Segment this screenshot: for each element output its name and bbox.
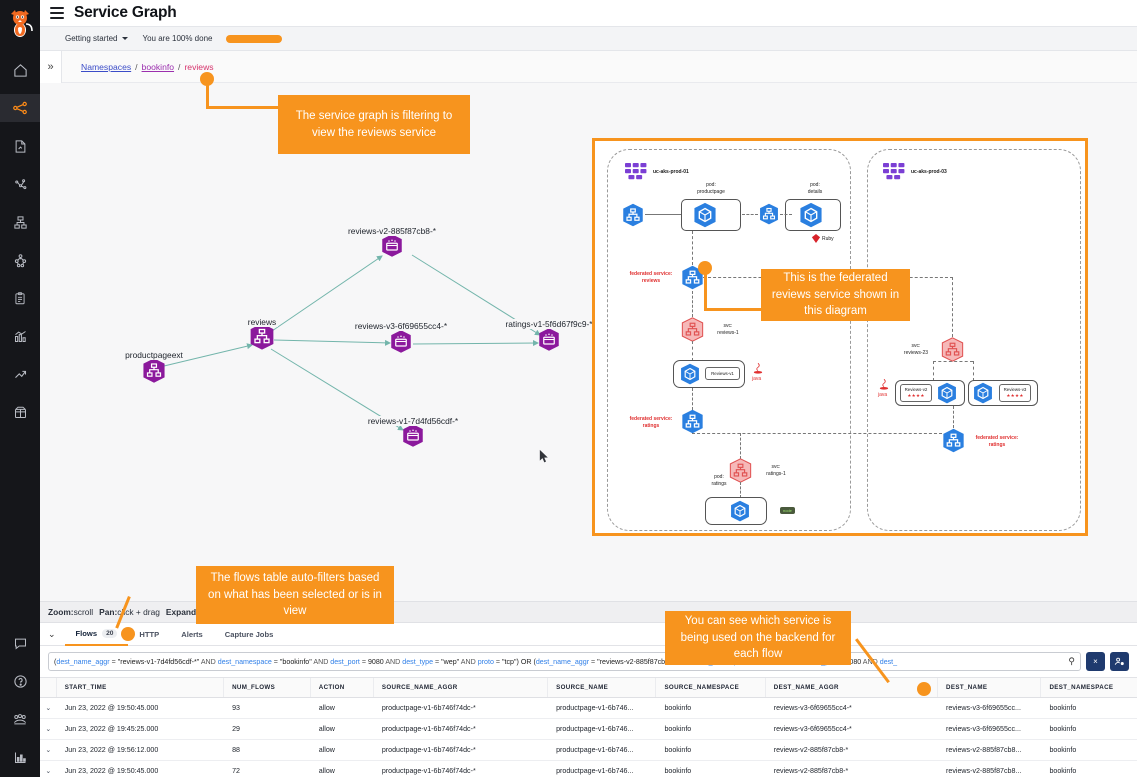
help-question-icon[interactable] xyxy=(0,667,40,695)
zoom-hint-zoom-label: Zoom: xyxy=(48,607,74,617)
zoom-hint-pan-label: Pan: xyxy=(99,607,117,617)
flow-query-input[interactable]: (dest_name_aggr = "reviews-v1-7d4fd56cdf… xyxy=(48,652,1081,671)
mouse-cursor xyxy=(539,449,549,464)
cell-dest_name: reviews-v3-6f69655cc... xyxy=(938,704,1041,712)
java-logo-icon-left xyxy=(753,363,763,375)
edge-right-cluster-down xyxy=(952,277,953,337)
cell-source_name: productpage-v1-6b746... xyxy=(548,704,656,712)
archive-box-icon[interactable] xyxy=(0,398,40,426)
reviews-v3-ui-label: Reviews-v3 xyxy=(1004,387,1027,392)
cluster-label-prod-01: uc-aks-prod-01 xyxy=(653,169,689,176)
pod-productpage-label: pod: productpage xyxy=(683,182,739,196)
edge-svc23-left-down xyxy=(933,361,934,381)
tab-capture-jobs[interactable]: Capture Jobs xyxy=(214,623,285,646)
getting-started-dropdown[interactable]: Getting started xyxy=(65,34,128,43)
network-sets-icon[interactable] xyxy=(0,208,40,236)
row-expand-chevron-down-icon[interactable]: ⌄ xyxy=(40,746,57,754)
graph-node-productpageext[interactable] xyxy=(141,358,167,389)
table-row[interactable]: ⌄Jun 23, 2022 @ 19:50:45.00072allowprodu… xyxy=(40,761,1137,777)
cell-source_name: productpage-v1-6b746... xyxy=(548,725,656,733)
edge-fed-ratings-link xyxy=(692,433,942,434)
edge-fed-reviews-down xyxy=(692,291,693,317)
service-graph-icon[interactable] xyxy=(0,94,40,122)
callout-2-leader-line-2 xyxy=(704,308,764,311)
table-row[interactable]: ⌄Jun 23, 2022 @ 19:50:45.00093allowprodu… xyxy=(40,698,1137,719)
edge-svc-reviews1-down xyxy=(692,341,693,361)
cell-start_time: Jun 23, 2022 @ 19:45:25.000 xyxy=(57,725,224,733)
details-pod-icon xyxy=(798,202,824,228)
table-header-source-namespace[interactable]: SOURCE_NAMESPACE xyxy=(656,678,765,697)
progress-text: You are 100% done xyxy=(142,34,212,43)
graph-node-reviews[interactable] xyxy=(248,323,276,356)
edge-details-svc-to-pod xyxy=(780,214,792,215)
query-token-19: "tcp" xyxy=(502,658,517,666)
table-header-start-time[interactable]: START_TIME xyxy=(57,678,224,697)
cell-source_name: productpage-v1-6b746... xyxy=(548,746,656,754)
cell-num_flows: 93 xyxy=(224,704,311,712)
cell-action: allow xyxy=(311,767,374,775)
edge-svc23-split xyxy=(933,361,973,362)
federated-ratings-right-icon xyxy=(941,428,966,453)
callout-2-anchor-dot xyxy=(698,261,712,275)
reviews-v1-pod-icon xyxy=(679,363,701,385)
query-token-15: "wep" xyxy=(441,658,459,666)
callout-3-anchor-dot xyxy=(121,627,135,641)
users-group-icon[interactable] xyxy=(0,705,40,733)
cell-source_name_aggr: productpage-v1-6b746f74dc-* xyxy=(374,767,548,775)
query-token-14: = xyxy=(433,658,441,666)
cell-dest_name_aggr: reviews-v3-6f69655cc4-* xyxy=(766,704,938,712)
query-token-20: ) OR ( xyxy=(517,658,536,666)
reviews-v2-pod-icon xyxy=(936,382,958,404)
table-header-row: START_TIME NUM_FLOWS ACTION SOURCE_NAME_… xyxy=(40,677,1137,698)
ingress-service-icon xyxy=(621,203,645,227)
graph-node-reviews-v1[interactable] xyxy=(401,424,425,453)
query-token-16: AND xyxy=(459,658,478,666)
cell-start_time: Jun 23, 2022 @ 19:50:45.000 xyxy=(57,767,224,775)
node-runtime-badge: node xyxy=(780,507,795,514)
cell-source_namespace: bookinfo xyxy=(656,725,765,733)
svc-reviews-23-icon xyxy=(940,337,965,362)
query-token-4: AND xyxy=(199,658,218,666)
clear-filter-button[interactable]: × xyxy=(1086,652,1105,671)
breadcrumb-item-reviews: reviews xyxy=(184,62,213,72)
federated-ratings-label: federated service: ratings xyxy=(623,416,679,430)
table-row[interactable]: ⌄Jun 23, 2022 @ 19:45:25.00029allowprodu… xyxy=(40,719,1137,740)
save-filter-button[interactable] xyxy=(1110,652,1129,671)
cell-source_name_aggr: productpage-v1-6b746f74dc-* xyxy=(374,704,548,712)
query-token-18: = xyxy=(494,658,502,666)
breadcrumb: Namespaces / bookinfo / reviews xyxy=(81,62,214,72)
row-expand-chevron-down-icon[interactable]: ⌄ xyxy=(40,767,57,775)
sidebar-expander-button[interactable]: » xyxy=(40,51,62,83)
progress-bar xyxy=(226,35,282,43)
query-token-17: proto xyxy=(478,658,494,666)
reviews-v2-stars-icon: ★★★★ xyxy=(907,393,924,399)
cell-source_name_aggr: productpage-v1-6b746f74dc-* xyxy=(374,746,548,754)
svc-reviews-23-label: svc: reviews-23 xyxy=(895,343,937,357)
callout-backend-service-per-flow: You can see which service is being used … xyxy=(665,611,851,665)
nodes-graph-icon[interactable] xyxy=(0,170,40,198)
query-token-7: "bookinfo" xyxy=(280,658,312,666)
callout-1-anchor-dot xyxy=(200,72,214,86)
reviews-v1-ui-box: Reviews-v1 xyxy=(705,367,740,380)
pod-ratings-label: pod: ratings xyxy=(698,474,740,488)
query-token-13: dest_type xyxy=(402,658,433,666)
rail-bottom-group xyxy=(0,619,40,777)
trend-arrow-icon[interactable] xyxy=(0,360,40,388)
tab-http-label: HTTP xyxy=(139,630,159,639)
reviews-v2-ui-label: Reviews-v2 xyxy=(905,387,928,392)
callout-federated-reviews-service: This is the federated reviews service sh… xyxy=(761,269,910,321)
callout-1-leader-line-2 xyxy=(206,106,282,109)
edge-fed-ratings-down xyxy=(740,433,741,459)
pod-details-label: pod: details xyxy=(787,182,843,196)
getting-started-label: Getting started xyxy=(65,34,117,43)
reviews-v3-stars-icon: ★★★★ xyxy=(1006,393,1023,399)
policies-icon[interactable] xyxy=(0,132,40,160)
table-body: ⌄Jun 23, 2022 @ 19:50:45.00093allowprodu… xyxy=(40,698,1137,777)
cell-dest_namespace: bookinfo xyxy=(1041,746,1137,754)
graph-node-label-reviews-v1: reviews-v1-7d4fd56cdf-* xyxy=(366,416,460,426)
edge-svc23-right-down xyxy=(973,361,974,381)
tigera-cat-logo[interactable] xyxy=(0,0,40,46)
cell-num_flows: 72 xyxy=(224,767,311,775)
top-bar: Service Graph xyxy=(40,0,1137,27)
dashboard-chart-icon[interactable] xyxy=(0,322,40,350)
table-header-source-name[interactable]: SOURCE_NAME xyxy=(548,678,656,697)
callout-4-anchor-dot xyxy=(917,682,931,696)
page-title: Service Graph xyxy=(74,4,177,22)
cell-action: allow xyxy=(311,725,374,733)
query-token-21: dest_name_aggr xyxy=(536,658,589,666)
row-expand-chevron-down-icon[interactable]: ⌄ xyxy=(40,704,57,712)
callout-flows-table-autofilter: The flows table auto-filters based on wh… xyxy=(196,566,394,624)
java-label-left: java xyxy=(752,376,761,383)
edge-reviews-v23-down xyxy=(953,406,954,428)
flow-filter-row: (dest_name_aggr = "reviews-v1-7d4fd56cdf… xyxy=(40,646,1137,677)
java-label-right: java xyxy=(878,392,887,399)
table-header-dest-name[interactable]: DEST_NAME xyxy=(938,678,1041,697)
query-token-9: dest_port xyxy=(330,658,360,666)
home-icon[interactable] xyxy=(0,56,40,84)
table-header-action[interactable]: ACTION xyxy=(311,678,374,697)
cell-dest_namespace: bookinfo xyxy=(1041,725,1137,733)
save-filter-icon xyxy=(1114,656,1125,667)
double-chevron-down-icon[interactable]: ⌄ xyxy=(48,629,56,640)
edge-svc-ratings1-down xyxy=(740,482,741,498)
edge-productpage-to-details-svc xyxy=(742,214,758,215)
query-token-1: dest_name_aggr xyxy=(56,658,109,666)
federated-ratings-right-label: federated service: ratings xyxy=(969,435,1025,449)
graph-node-label-reviews-v2: reviews-v2-885f87cb8-* xyxy=(346,226,438,236)
query-token-2: = xyxy=(110,658,118,666)
cell-start_time: Jun 23, 2022 @ 19:56:12.000 xyxy=(57,746,224,754)
query-token-5: dest_namespace xyxy=(218,658,272,666)
architecture-diagram-panel: uc-aks-prod-01 uc-aks-prod-03 pod: produ… xyxy=(592,138,1088,536)
cell-dest_name_aggr: reviews-v3-6f69655cc4-* xyxy=(766,725,938,733)
cell-source_namespace: bookinfo xyxy=(656,767,765,775)
graph-node-label-reviews-v3: reviews-v3-6f69655cc4-* xyxy=(353,321,449,331)
flows-table[interactable]: START_TIME NUM_FLOWS ACTION SOURCE_NAME_… xyxy=(40,677,1137,777)
cell-dest_name_aggr: reviews-v2-885f87cb8-* xyxy=(766,746,938,754)
table-header-dest-name-aggr[interactable]: DEST_NAME_AGGR xyxy=(766,678,938,697)
cluster-label-prod-03: uc-aks-prod-03 xyxy=(911,169,947,176)
table-row[interactable]: ⌄Jun 23, 2022 @ 19:56:12.00088allowprodu… xyxy=(40,740,1137,761)
query-token-11: 9080 xyxy=(368,658,384,666)
tab-flows-count: 20 xyxy=(102,629,117,638)
cell-action: allow xyxy=(311,746,374,754)
zoom-hint-expand-label[interactable]: Expand xyxy=(166,607,196,617)
cluster-box-prod-03 xyxy=(867,149,1081,531)
table-header-spacer xyxy=(40,678,57,697)
reviews-v3-ui-box: Reviews-v3 ★★★★ xyxy=(999,384,1031,402)
row-expand-chevron-down-icon[interactable]: ⌄ xyxy=(40,725,57,733)
callout-service-graph-filtering: The service graph is filtering to view t… xyxy=(278,95,470,154)
cell-dest_name: reviews-v2-885f87cb8... xyxy=(938,746,1041,754)
details-service-icon xyxy=(758,203,780,225)
tab-flows-label: Flows xyxy=(76,629,98,638)
query-token-33: dest_ xyxy=(880,658,897,666)
table-header-dest-namespace[interactable]: DEST_NAMESPACE xyxy=(1041,678,1137,697)
query-token-6: = xyxy=(272,658,280,666)
graph-node-ratings-v1[interactable] xyxy=(537,328,561,357)
getting-started-strip: Getting started You are 100% done xyxy=(40,27,1137,51)
ruby-logo-icon xyxy=(811,234,821,243)
federated-reviews-label: federated service: reviews xyxy=(623,271,679,285)
cell-source_name_aggr: productpage-v1-6b746f74dc-* xyxy=(374,725,548,733)
clear-x-icon: × xyxy=(1093,657,1098,666)
svc-reviews-1-icon xyxy=(680,317,705,342)
edge-productpage-down xyxy=(692,231,693,265)
graph-node-reviews-v3[interactable] xyxy=(389,330,413,359)
chat-bubble-icon[interactable] xyxy=(0,629,40,657)
graph-node-reviews-v2[interactable] xyxy=(380,234,404,263)
cell-source_namespace: bookinfo xyxy=(656,704,765,712)
query-token-10: = xyxy=(360,658,368,666)
cell-dest_namespace: bookinfo xyxy=(1041,704,1137,712)
hierarchy-icon[interactable] xyxy=(0,246,40,274)
tab-alerts-label: Alerts xyxy=(181,630,203,639)
zoom-hint-zoom-value: scroll xyxy=(74,607,94,617)
reviews-v3-pod-icon xyxy=(972,382,994,404)
left-nav-rail xyxy=(0,0,40,777)
svc-ratings-1-label: svc: ratings-1 xyxy=(755,464,797,478)
graph-node-label-ratings-v1: ratings-v1-5f6d67f9c9-* xyxy=(503,319,594,329)
edge-ingress-to-productpage xyxy=(645,214,681,215)
reviews-v2-ui-box: Reviews-v2 ★★★★ xyxy=(900,384,932,402)
cell-dest_name: reviews-v3-6f69655cc... xyxy=(938,725,1041,733)
magnifier-icon[interactable]: ⚲ xyxy=(1064,656,1075,667)
federated-ratings-icon xyxy=(680,409,705,434)
graph-node-label-productpageext: productpageext xyxy=(123,350,185,360)
svc-reviews-1-label: svc: reviews-1 xyxy=(707,323,749,337)
cell-source_name: productpage-v1-6b746... xyxy=(548,767,656,775)
cell-num_flows: 29 xyxy=(224,725,311,733)
tab-capture-jobs-label: Capture Jobs xyxy=(225,630,274,639)
java-logo-icon-right xyxy=(879,379,889,391)
breadcrumb-separator-2: / xyxy=(178,62,180,72)
query-token-3: "reviews-v1-7d4fd56cdf-*" xyxy=(118,658,200,666)
cell-dest_name_aggr: reviews-v2-885f87cb8-* xyxy=(766,767,938,775)
table-header-source-name-aggr[interactable]: SOURCE_NAME_AGGR xyxy=(374,678,548,697)
productpage-pod-icon xyxy=(692,202,718,228)
query-token-22: = xyxy=(589,658,597,666)
edge-reviews-v1-down xyxy=(692,388,693,410)
cell-start_time: Jun 23, 2022 @ 19:50:45.000 xyxy=(57,704,224,712)
kibana-bars-icon[interactable] xyxy=(0,743,40,771)
cell-num_flows: 88 xyxy=(224,746,311,754)
cluster-icon-prod-01 xyxy=(625,163,649,181)
hamburger-icon[interactable] xyxy=(50,4,64,22)
cell-action: allow xyxy=(311,704,374,712)
chevron-down-icon xyxy=(122,37,128,40)
query-token-8: AND xyxy=(312,658,331,666)
logs-clipboard-icon[interactable] xyxy=(0,284,40,312)
cluster-icon-prod-03 xyxy=(883,163,907,181)
tab-alerts[interactable]: Alerts xyxy=(170,623,214,646)
table-header-num-flows[interactable]: NUM_FLOWS xyxy=(224,678,311,697)
graph-node-label-reviews: reviews xyxy=(246,317,278,327)
ruby-label: Ruby xyxy=(822,236,834,243)
cell-dest_name: reviews-v2-885f87cb8... xyxy=(938,767,1041,775)
bottom-panel-tabs: ⌄ Flows 20 HTTP Alerts Capture Jobs xyxy=(40,623,1137,646)
query-token-12: AND xyxy=(384,658,403,666)
ratings-pod-icon xyxy=(729,500,751,522)
cell-source_namespace: bookinfo xyxy=(656,746,765,754)
cell-dest_namespace: bookinfo xyxy=(1041,767,1137,775)
breadcrumb-item-bookinfo[interactable]: bookinfo xyxy=(142,62,175,72)
breadcrumb-separator-1: / xyxy=(135,62,137,72)
breadcrumb-item-namespaces[interactable]: Namespaces xyxy=(81,62,131,72)
